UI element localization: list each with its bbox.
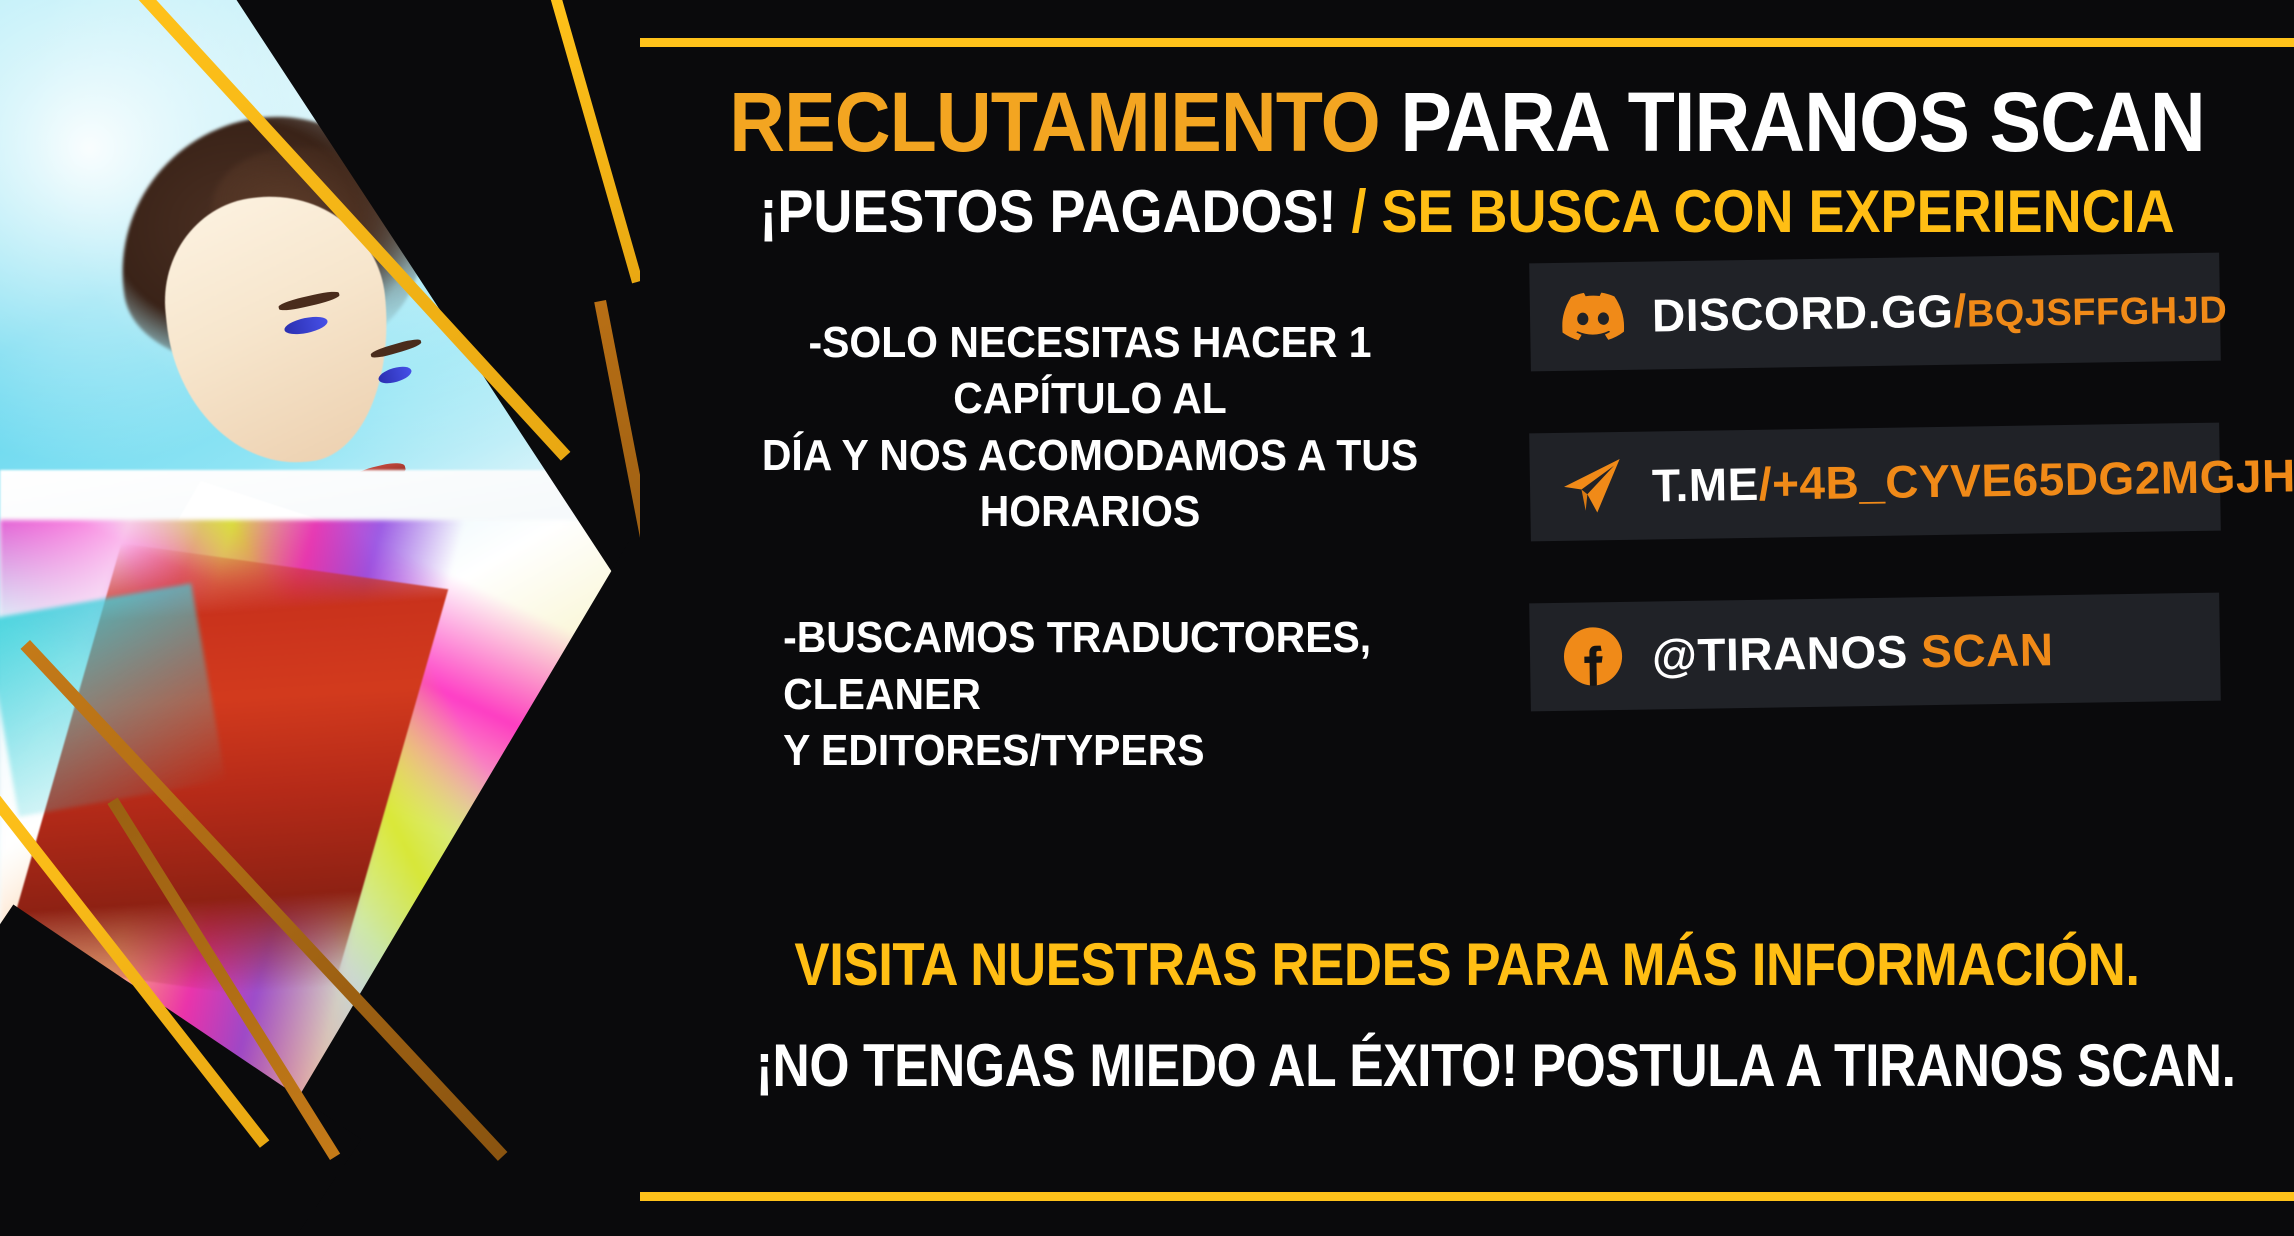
telegram-separator: / [1758, 458, 1772, 510]
contact-label-telegram: T.ME/+4B_CYVE65DG2MGJH [1652, 448, 2294, 512]
artwork-teal-accent [0, 583, 226, 816]
discord-domain: DISCORD.GG [1652, 285, 1954, 342]
copy-schedule-line-2: DÍA Y NOS ACOMODAMOS A TUS HORARIOS [762, 431, 1418, 536]
cta-line-1: VISITA NUESTRAS REDES PARA MÁS INFORMACI… [739, 930, 2195, 999]
contact-label-discord: DISCORD.GG/BQJSFFGHJD [1652, 279, 2228, 342]
headline-highlight: RECLUTAMIENTO [729, 75, 1380, 169]
telegram-domain: T.ME [1652, 458, 1760, 512]
body-copy: -SOLO NECESITAS HACER 1 CAPÍTULO AL DÍA … [680, 300, 1500, 779]
recruitment-banner: RECLUTAMIENTO PARA TIRANOS SCAN ¡PUESTOS… [0, 0, 2294, 1236]
contact-card-discord[interactable]: DISCORD.GG/BQJSFFGHJD [1529, 253, 2221, 372]
subtitle-experience: / SE BUSCA CON EXPERIENCIA [1351, 178, 2174, 245]
page-title: RECLUTAMIENTO PARA TIRANOS SCAN [706, 80, 2228, 166]
page-subtitle: ¡PUESTOS PAGADOS! / SE BUSCA CON EXPERIE… [723, 180, 2212, 243]
gold-rule-bottom [640, 1192, 2294, 1201]
facebook-separator [1907, 625, 1921, 677]
facebook-icon [1560, 623, 1627, 690]
headline-rest: PARA TIRANOS SCAN [1400, 75, 2204, 169]
copy-block-roles: -BUSCAMOS TRADUCTORES, CLEANER Y EDITORE… [709, 610, 1472, 779]
artwork-panel [0, 0, 640, 1236]
contact-label-facebook: @TIRANOS SCAN [1652, 622, 2054, 682]
copy-roles-line-2: Y EDITORES/TYPERS [783, 723, 1471, 779]
gold-rule-top [640, 38, 2294, 47]
copy-schedule-line-1: -SOLO NECESITAS HACER 1 CAPÍTULO AL [808, 318, 1371, 423]
discord-icon [1560, 283, 1627, 350]
contact-card-telegram[interactable]: T.ME/+4B_CYVE65DG2MGJH [1529, 423, 2221, 542]
contact-list: DISCORD.GG/BQJSFFGHJD T.ME/+4B_CYVE65DG2… [1530, 258, 2230, 768]
call-to-action: VISITA NUESTRAS REDES PARA MÁS INFORMACI… [640, 930, 2294, 1100]
copy-roles-line-1: -BUSCAMOS TRADUCTORES, CLEANER [783, 610, 1471, 723]
facebook-handle-name: @TIRANOS [1652, 625, 1909, 681]
facebook-handle-suffix: SCAN [1921, 623, 2054, 677]
telegram-handle: +4B_CYVE65DG2MGJH [1772, 449, 2294, 509]
telegram-icon [1560, 453, 1627, 520]
discord-handle: BQJSFFGHJD [1966, 289, 2227, 335]
content-panel: RECLUTAMIENTO PARA TIRANOS SCAN ¡PUESTOS… [640, 0, 2294, 1236]
copy-block-schedule: -SOLO NECESITAS HACER 1 CAPÍTULO AL DÍA … [709, 315, 1472, 540]
contact-card-facebook[interactable]: @TIRANOS SCAN [1529, 593, 2221, 712]
subtitle-paid: ¡PUESTOS PAGADOS! [759, 178, 1336, 245]
discord-separator: / [1953, 285, 1967, 337]
cta-line-2: ¡NO TENGAS MIEDO AL ÉXITO! POSTULA A TIR… [756, 1031, 2178, 1100]
